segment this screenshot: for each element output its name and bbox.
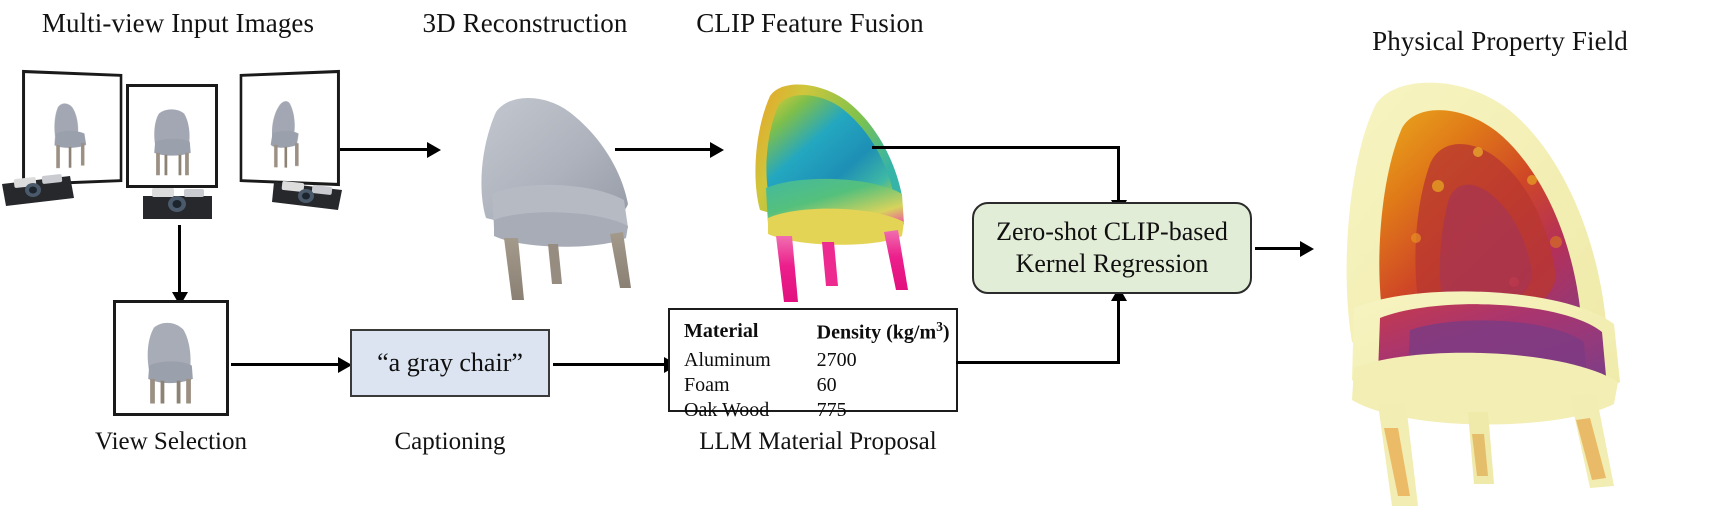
label-view-selection: View Selection xyxy=(61,428,281,456)
arrow-right-icon-views-to-recon xyxy=(340,148,428,151)
chair-icon xyxy=(116,303,226,413)
cell-material: Oak Wood xyxy=(684,398,817,423)
view-frame-right[interactable] xyxy=(240,70,340,186)
density-label-sup: 3 xyxy=(936,319,943,334)
heading-clip-feature-fusion: CLIP Feature Fusion xyxy=(688,8,932,39)
physical-property-field-chair xyxy=(1318,56,1648,508)
figure-canvas: Multi-view Input Images 3D Reconstructio… xyxy=(0,0,1724,512)
cell-material: Aluminum xyxy=(684,348,817,373)
label-captioning: Captioning xyxy=(350,428,550,456)
view-frame-center[interactable] xyxy=(126,84,218,188)
chair-icon xyxy=(25,73,120,183)
table-row: Oak Wood 775 xyxy=(684,398,950,423)
column-header-material: Material xyxy=(684,319,817,348)
table: Material Density (kg/m3) Aluminum 2700 F… xyxy=(684,319,950,423)
density-label-pre: Density (kg/m xyxy=(817,322,936,344)
arrow-right-icon-recon-to-clip xyxy=(615,148,711,151)
module-line-2: Kernel Regression xyxy=(1016,248,1209,280)
arrow-right-icon-selection-to-caption xyxy=(231,363,339,366)
arrow-down-icon-views-to-selection xyxy=(178,225,181,293)
cell-density: 775 xyxy=(817,398,950,423)
camera-icon-left xyxy=(0,168,76,208)
heading-3d-reconstruction: 3D Reconstruction xyxy=(415,8,635,39)
chair-icon xyxy=(242,73,337,183)
zero-shot-clip-kernel-regression-box[interactable]: Zero-shot CLIP-based Kernel Regression xyxy=(972,202,1252,294)
table-header-row: Material Density (kg/m3) xyxy=(684,319,950,348)
connector-clip-to-module-horizontal xyxy=(872,146,1120,149)
camera-icon-center xyxy=(140,182,216,222)
table-row: Foam 60 xyxy=(684,373,950,398)
camera-icon-right xyxy=(270,172,346,212)
reconstructed-chair xyxy=(452,52,652,302)
arrow-down-icon-clip-to-module xyxy=(1117,146,1120,201)
caption-text-box[interactable]: “a gray chair” xyxy=(350,329,550,397)
cell-density: 2700 xyxy=(817,348,950,373)
table-row: Aluminum 2700 xyxy=(684,348,950,373)
chair-icon xyxy=(738,52,918,302)
cell-material: Foam xyxy=(684,373,817,398)
chair-icon xyxy=(1318,56,1648,508)
label-llm-material-proposal: LLM Material Proposal xyxy=(673,428,963,456)
chair-icon xyxy=(129,87,215,185)
chair-icon xyxy=(452,52,652,302)
module-line-1: Zero-shot CLIP-based xyxy=(996,216,1228,248)
heading-physical-property-field: Physical Property Field xyxy=(1280,26,1720,57)
arrow-right-icon-caption-to-table xyxy=(553,363,665,366)
clip-feature-chair xyxy=(738,52,918,302)
column-header-density: Density (kg/m3) xyxy=(817,319,950,348)
arrow-right-icon-module-to-output xyxy=(1255,247,1301,250)
arrow-up-icon-table-to-module xyxy=(1117,300,1120,362)
view-selection-frame[interactable] xyxy=(113,300,229,416)
density-label-post: ) xyxy=(943,322,950,344)
connector-table-to-module-horizontal xyxy=(956,361,1120,364)
material-proposal-table[interactable]: Material Density (kg/m3) Aluminum 2700 F… xyxy=(668,308,958,412)
cell-density: 60 xyxy=(817,373,950,398)
heading-multiview: Multi-view Input Images xyxy=(38,8,318,39)
